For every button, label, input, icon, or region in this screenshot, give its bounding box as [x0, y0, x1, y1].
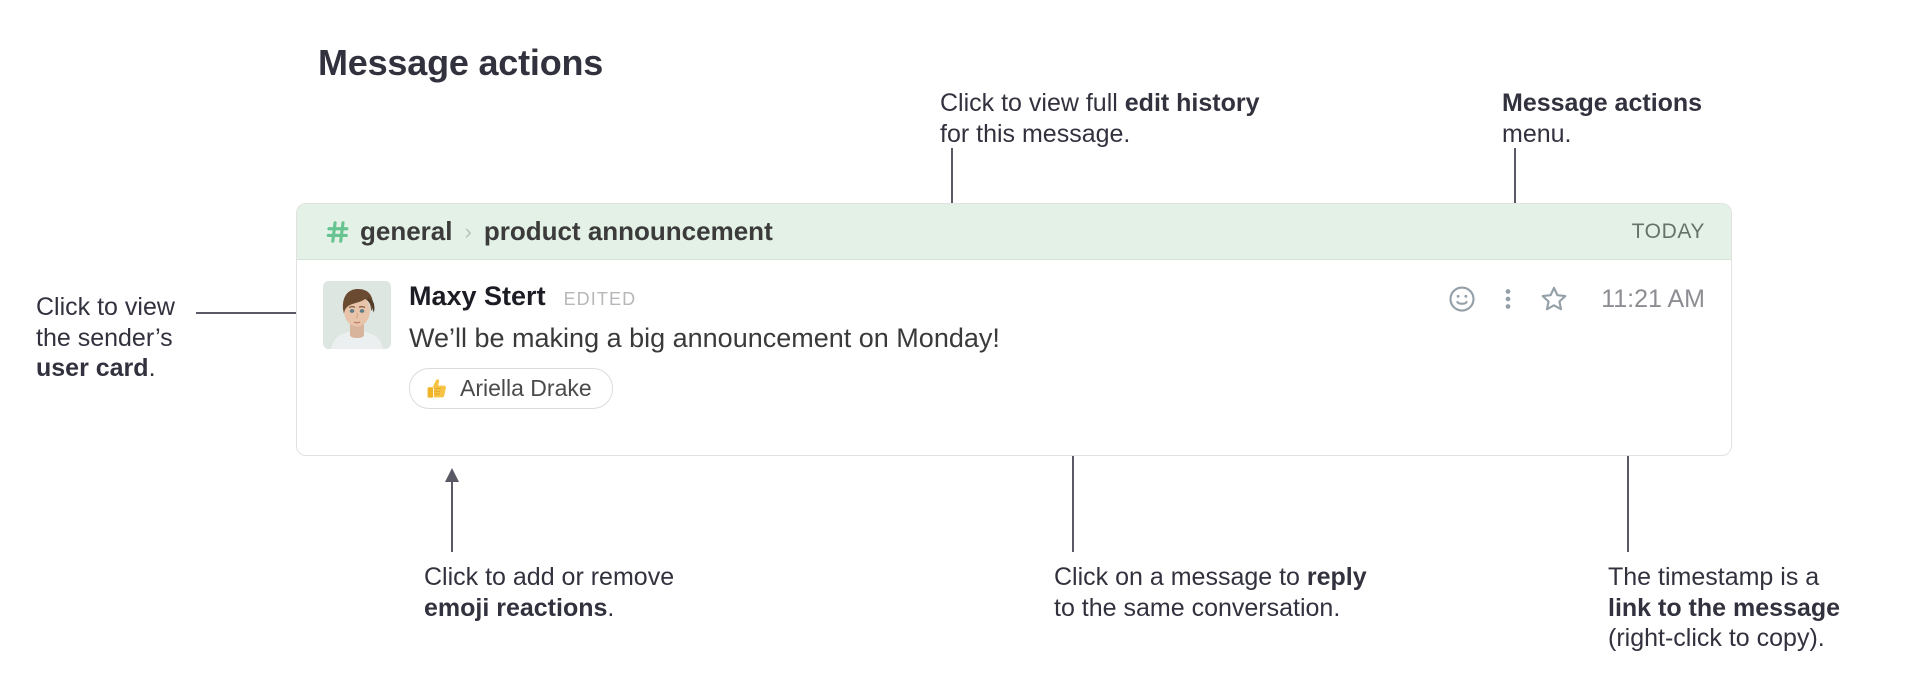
annotation-reactions-bold: emoji reactions [424, 594, 607, 622]
annotation-user-card-period: . [149, 354, 156, 382]
avatar-photo [323, 281, 391, 349]
edited-badge[interactable]: EDITED [564, 289, 637, 310]
annotation-timestamp: The timestamp is a link to the message (… [1608, 562, 1840, 654]
annotation-timestamp-text3: (right-click to copy). [1608, 623, 1840, 654]
annotation-edit-history: Click to view full edit history for this… [940, 88, 1260, 149]
annotation-actions-menu-bold: Message actions [1502, 89, 1702, 117]
annotation-reply-bold: reply [1307, 563, 1367, 591]
breadcrumb-separator-icon: › [465, 221, 472, 243]
avatar[interactable] [323, 281, 391, 349]
annotation-reply-text2: to the same conversation. [1054, 593, 1367, 624]
annotation-reply-text1: Click on a message to [1054, 563, 1307, 591]
date-label: TODAY [1632, 220, 1705, 244]
annotation-timestamp-text1: The timestamp is a [1608, 562, 1840, 593]
message-actions-bar: 11:21 AM [1447, 284, 1705, 314]
message-row[interactable]: Maxy Stert EDITED We’ll be making a big … [297, 260, 1731, 409]
annotation-user-card: Click to view the sender’s user card. [36, 292, 175, 384]
message-timestamp[interactable]: 11:21 AM [1601, 285, 1705, 314]
annotation-actions-menu: Message actions menu. [1502, 88, 1702, 149]
annotation-timestamp-bold: link to the message [1608, 594, 1840, 622]
annotation-reactions-text1: Click to add or remove [424, 562, 674, 593]
sender-name[interactable]: Maxy Stert [409, 281, 546, 312]
annotation-reactions: Click to add or remove emoji reactions. [424, 562, 674, 623]
annotation-edit-history-bold: edit history [1125, 89, 1260, 117]
hash-icon [325, 219, 351, 245]
page-title: Message actions [318, 42, 603, 84]
annotation-user-card-bold: user card [36, 354, 149, 382]
annotation-user-card-text1: Click to view [36, 292, 175, 323]
annotation-edit-history-text2: for this message. [940, 119, 1260, 150]
channel-name[interactable]: general [360, 216, 453, 247]
reaction-user-name: Ariella Drake [460, 375, 592, 402]
message-body[interactable]: We’ll be making a big announcement on Mo… [409, 323, 1705, 354]
annotation-user-card-text2: the sender’s [36, 323, 175, 354]
message-actions-menu-icon[interactable] [1503, 284, 1513, 314]
reaction-chip[interactable]: Ariella Drake [409, 368, 613, 409]
star-icon[interactable] [1539, 284, 1569, 314]
annotation-edit-history-text1: Click to view full [940, 89, 1125, 117]
message-card: general › product announcement TODAY [296, 203, 1732, 456]
topic-name[interactable]: product announcement [484, 216, 773, 247]
annotation-reply: Click on a message to reply to the same … [1054, 562, 1367, 623]
annotation-actions-menu-text2: menu. [1502, 119, 1702, 150]
thumbs-up-emoji [424, 376, 450, 402]
channel-header: general › product announcement TODAY [297, 204, 1731, 260]
annotation-reactions-period: . [607, 594, 614, 622]
emoji-reaction-icon[interactable] [1447, 284, 1477, 314]
